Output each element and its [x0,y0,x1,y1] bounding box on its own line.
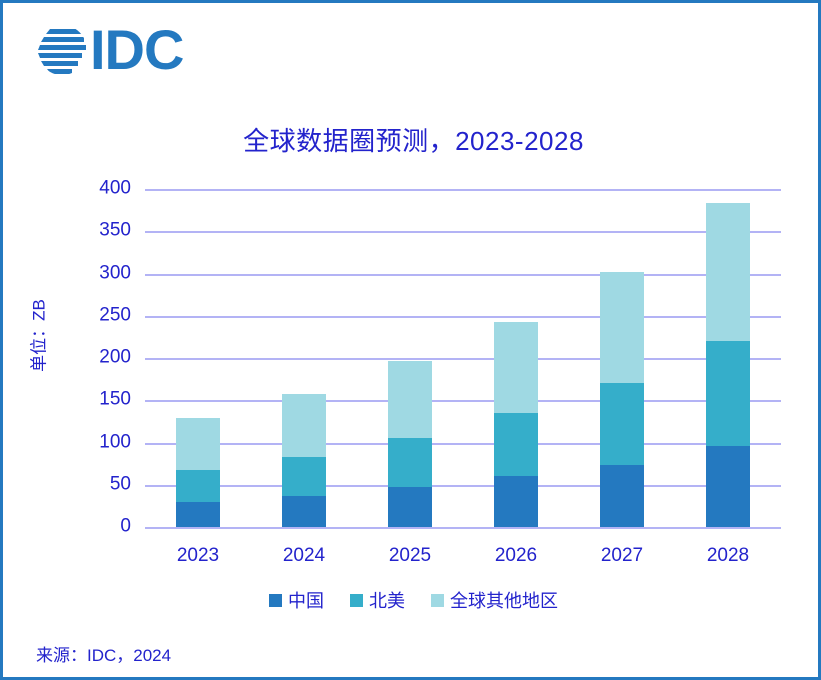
y-axis-tick-label: 50 [110,473,131,495]
bar-segment [176,418,220,470]
source-note: 来源：IDC，2024 [36,641,171,666]
bar-segment [494,476,538,527]
gridline: 400 [145,189,781,191]
gridline: 150 [145,400,781,402]
legend-swatch-icon [269,594,282,607]
bar-segment [600,465,644,527]
legend-swatch-icon [350,594,363,607]
chart-plot-area: 单位：ZB 4003503002502001501005002023202420… [3,3,821,680]
bar-2025 [388,361,432,527]
y-axis-tick-label: 300 [99,262,131,284]
bar-segment [600,383,644,465]
chart-page: IDC 全球数据圈预测，2023-2028 单位：ZB 400350300250… [0,0,821,680]
x-axis-tick-label: 2025 [389,545,431,567]
bar-2027 [600,272,644,527]
gridline: 250 [145,316,781,318]
legend-label: 北美 [369,587,405,613]
x-axis-tick-label: 2023 [177,545,219,567]
gridline: 350 [145,231,781,233]
gridline: 0 [145,527,781,529]
bar-segment [388,487,432,527]
bar-segment [282,457,326,496]
y-axis-tick-label: 100 [99,431,131,453]
bar-segment [706,446,750,527]
bar-2024 [282,394,326,527]
legend-item[interactable]: 中国 [269,587,324,613]
x-axis-tick-label: 2027 [601,545,643,567]
x-axis-tick-label: 2028 [707,545,749,567]
y-axis-tick-label: 400 [99,178,131,200]
y-axis-tick-label: 0 [120,516,131,538]
gridline: 300 [145,274,781,276]
chart-legend: 中国北美全球其他地区 [3,587,821,613]
legend-label: 全球其他地区 [450,587,558,613]
bar-segment [176,502,220,527]
bar-segment [494,413,538,476]
y-axis-tick-label: 150 [99,389,131,411]
legend-item[interactable]: 全球其他地区 [431,587,558,613]
bar-segment [600,272,644,384]
bar-segment [282,394,326,457]
y-axis-tick-label: 350 [99,220,131,242]
y-axis-title: 单位：ZB [25,276,50,396]
legend-swatch-icon [431,594,444,607]
legend-item[interactable]: 北美 [350,587,405,613]
bar-segment [388,361,432,439]
bar-2028 [706,203,750,527]
bar-segment [388,438,432,487]
plot-canvas: 4003503002502001501005002023202420252026… [145,189,781,527]
x-axis-tick-label: 2024 [283,545,325,567]
bar-segment [706,341,750,446]
y-axis-tick-label: 250 [99,304,131,326]
gridline: 100 [145,443,781,445]
bar-segment [706,203,750,341]
x-axis-tick-label: 2026 [495,545,537,567]
bar-segment [176,470,220,501]
legend-label: 中国 [288,587,324,613]
bar-2023 [176,418,220,527]
bar-segment [494,322,538,413]
bar-segment [282,496,326,527]
bar-2026 [494,322,538,527]
y-axis-tick-label: 200 [99,347,131,369]
gridline: 50 [145,485,781,487]
gridline: 200 [145,358,781,360]
